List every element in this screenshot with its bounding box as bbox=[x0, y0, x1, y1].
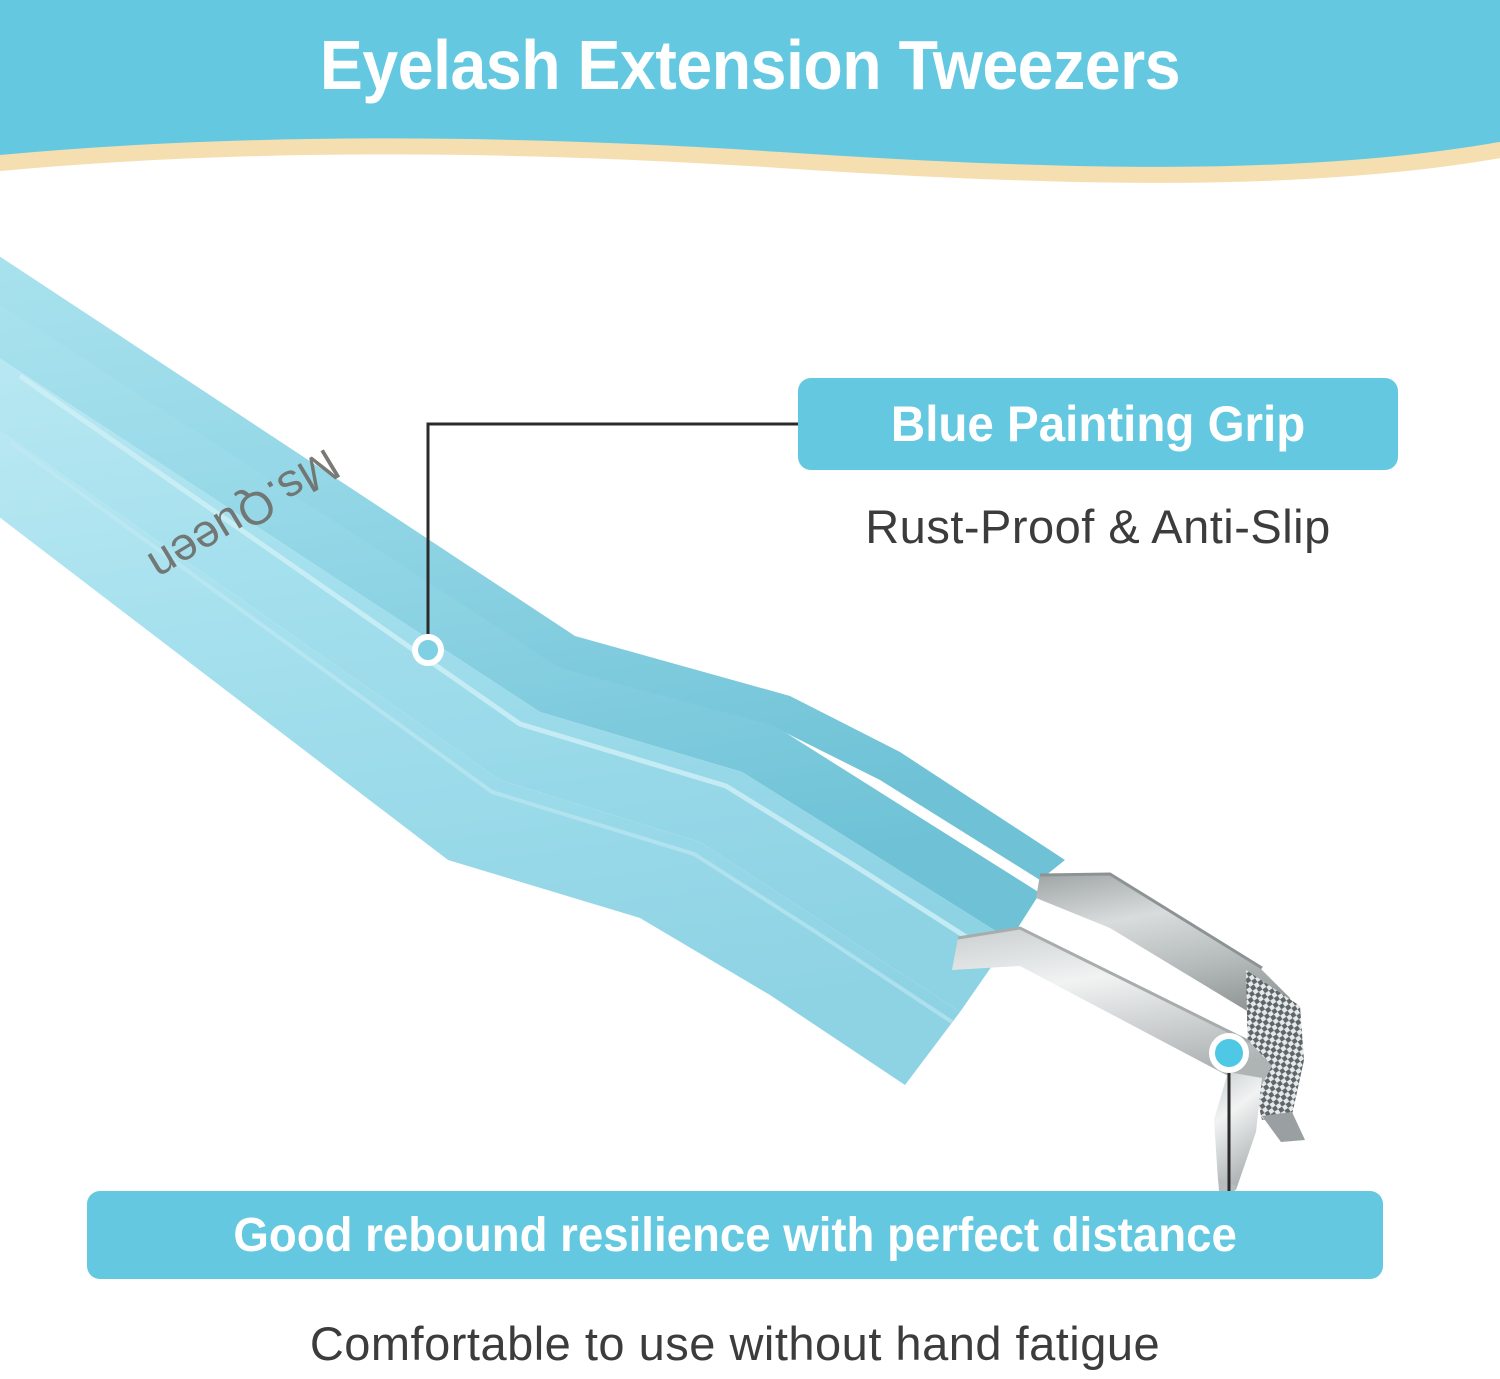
tweezer-lower-tip-taper bbox=[1214, 1072, 1262, 1190]
product-image-tweezers bbox=[0, 180, 1500, 1200]
infographic-canvas: Eyelash Extension Tweezers bbox=[0, 0, 1500, 1379]
callout-top-subtitle: Rust-Proof & Anti-Slip bbox=[798, 499, 1398, 554]
callout-top-title: Blue Painting Grip bbox=[891, 395, 1305, 453]
tweezer-upper-tip-point bbox=[1262, 1112, 1305, 1142]
callout-bottom-subtitle: Comfortable to use without hand fatigue bbox=[87, 1316, 1383, 1371]
callout-good-rebound-resilience: Good rebound resilience with perfect dis… bbox=[87, 1191, 1383, 1279]
callout-bottom-title: Good rebound resilience with perfect dis… bbox=[233, 1208, 1236, 1263]
page-title: Eyelash Extension Tweezers bbox=[60, 30, 1440, 100]
marker-dot-grip bbox=[412, 634, 444, 666]
callout-blue-painting-grip: Blue Painting Grip bbox=[798, 378, 1398, 470]
marker-dot-tip bbox=[1209, 1033, 1249, 1073]
header-banner: Eyelash Extension Tweezers bbox=[0, 0, 1500, 200]
